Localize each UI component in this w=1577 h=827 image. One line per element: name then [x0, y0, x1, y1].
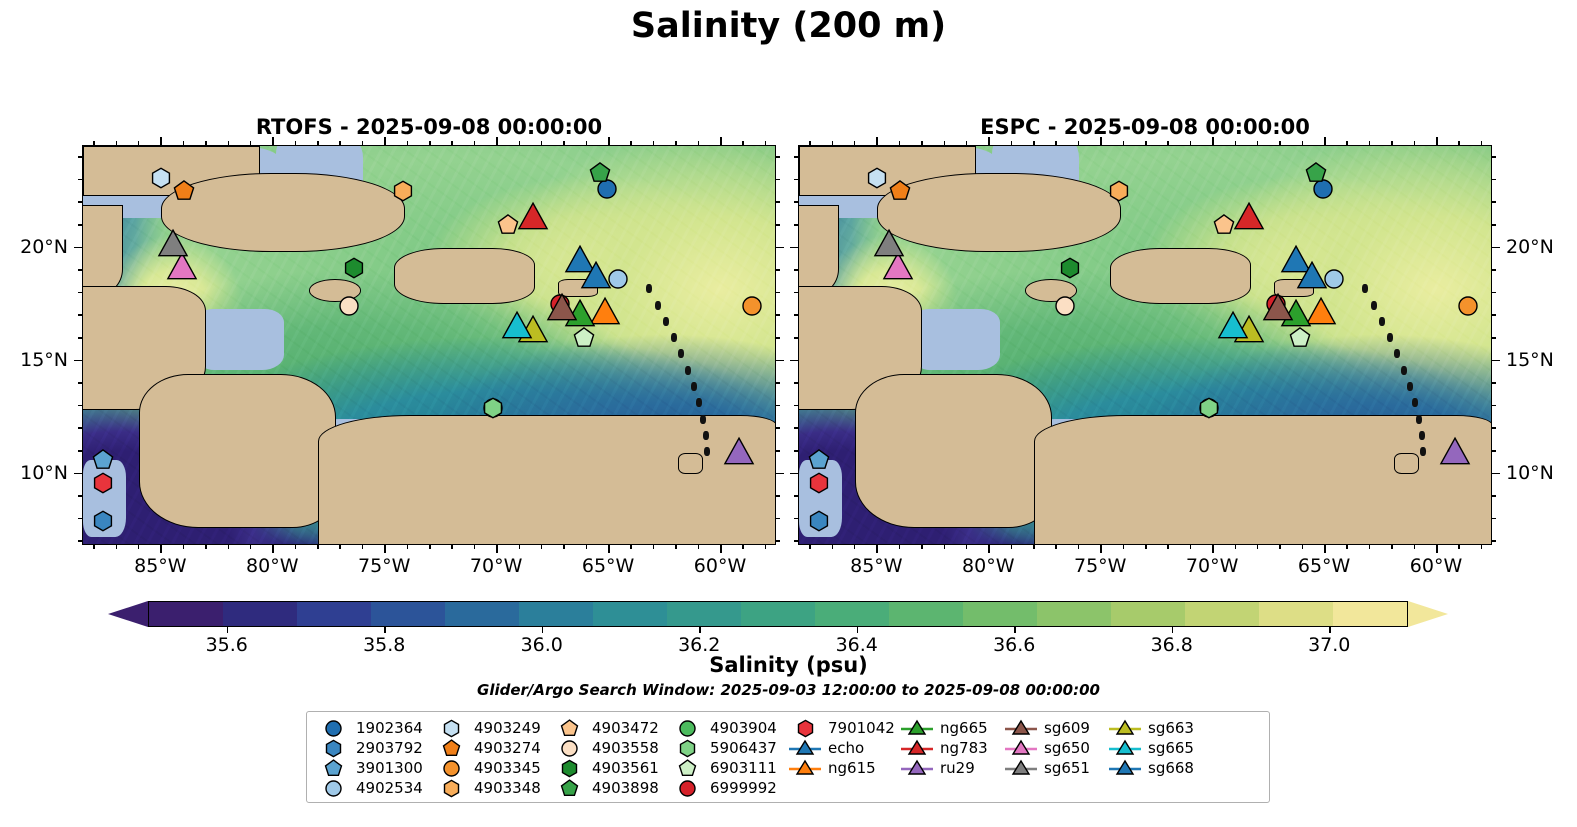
legend-label: sg668: [1148, 759, 1194, 777]
yaxis-minor-tick: [776, 292, 780, 294]
legend-label: 6903111: [710, 759, 777, 777]
legend-marker-triangle-icon: [788, 758, 822, 778]
xaxis-label: 80°W: [246, 555, 298, 577]
legend-item-2903792[interactable]: 2903792: [316, 738, 434, 758]
xaxis-minor-tick: [474, 141, 476, 145]
island: [1416, 415, 1422, 424]
xaxis-minor-tick: [407, 141, 409, 145]
xaxis-minor-tick: [1145, 141, 1147, 145]
colorbar-tick: [1329, 627, 1330, 633]
legend-item-sg663[interactable]: sg663: [1108, 718, 1212, 738]
map-marker-3901300[interactable]: [91, 448, 115, 472]
search-window-text: Glider/Argo Search Window: 2025-09-03 12…: [0, 681, 1577, 699]
xaxis-minor-tick: [921, 545, 923, 549]
xaxis-minor-tick: [1257, 545, 1259, 549]
xaxis-minor-tick: [1458, 545, 1460, 549]
legend-label: 4902534: [356, 779, 423, 797]
map-marker-4903898[interactable]: [1304, 161, 1328, 185]
map-marker-4903472[interactable]: [496, 213, 520, 237]
island: [704, 447, 710, 456]
legend-marker-hexagon-icon: [434, 718, 468, 738]
map-marker-sg609[interactable]: [548, 295, 576, 323]
legend-label: 4903274: [474, 739, 541, 757]
legend-label: 4903472: [592, 719, 659, 737]
yaxis-tick: [790, 360, 798, 362]
yaxis-tick: [1492, 360, 1500, 362]
yaxis-minor-tick: [78, 540, 82, 542]
legend-marker-circle-icon: [552, 738, 586, 758]
xaxis-minor-tick: [362, 141, 364, 145]
xaxis-minor-tick: [93, 141, 95, 145]
xaxis-tick: [608, 137, 610, 145]
xaxis-minor-tick: [1033, 545, 1035, 549]
xaxis-minor-tick: [630, 545, 632, 549]
xaxis-tick: [876, 545, 878, 553]
landmass: [678, 453, 703, 473]
yaxis-tick: [776, 247, 784, 249]
xaxis-tick: [1436, 137, 1438, 145]
island: [1420, 447, 1426, 456]
xaxis-minor-tick: [1279, 545, 1281, 549]
xaxis-minor-tick: [742, 545, 744, 549]
map-marker-4903472[interactable]: [1212, 213, 1236, 237]
xaxis-minor-tick: [1235, 141, 1237, 145]
yaxis-minor-tick: [776, 201, 780, 203]
continental-shelf: [197, 309, 284, 370]
xaxis-minor-tick: [698, 141, 700, 145]
xaxis-minor-tick: [1055, 141, 1057, 145]
xaxis-minor-tick: [205, 141, 207, 145]
legend-column: 4903904590643769031116999992: [670, 718, 788, 802]
colorbar-segment-2: [297, 602, 371, 626]
xaxis-minor-tick: [295, 141, 297, 145]
yaxis-minor-tick: [1492, 450, 1496, 452]
legend-label: sg609: [1044, 719, 1090, 737]
xaxis-minor-tick: [1167, 141, 1169, 145]
xaxis-minor-tick: [138, 141, 140, 145]
xaxis-minor-tick: [653, 545, 655, 549]
yaxis-minor-tick: [1492, 314, 1496, 316]
xaxis-minor-tick: [1190, 141, 1192, 145]
colorbar-extend-min: [108, 601, 148, 627]
yaxis-minor-tick: [794, 314, 798, 316]
yaxis-minor-tick: [1492, 427, 1496, 429]
colorbar-segment-6: [593, 602, 667, 626]
xaxis-minor-tick: [1011, 141, 1013, 145]
xaxis-minor-tick: [1078, 141, 1080, 145]
yaxis-minor-tick: [794, 540, 798, 542]
map-marker-5906437[interactable]: [1197, 396, 1221, 420]
xaxis-minor-tick: [899, 141, 901, 145]
xaxis-minor-tick: [1257, 141, 1259, 145]
xaxis-label: 70°W: [470, 555, 522, 577]
xaxis-minor-tick: [1145, 545, 1147, 549]
map-marker-4903558[interactable]: [337, 294, 361, 318]
yaxis-minor-tick: [78, 224, 82, 226]
xaxis-minor-tick: [586, 545, 588, 549]
map-marker-sg668[interactable]: [1298, 263, 1326, 291]
colorbar-gradient: [148, 601, 1408, 627]
legend-label: sg650: [1044, 739, 1090, 757]
legend-marker-hexagon-icon: [316, 738, 350, 758]
legend-item-6903111[interactable]: 6903111: [670, 758, 788, 778]
yaxis-minor-tick: [794, 156, 798, 158]
yaxis-minor-tick: [1492, 518, 1496, 520]
legend-marker-triangle-icon: [1004, 718, 1038, 738]
xaxis-minor-tick: [1033, 141, 1035, 145]
colorbar-segment-3: [371, 602, 445, 626]
xaxis-tick: [272, 545, 274, 553]
legend-item-4902534[interactable]: 4902534: [316, 778, 434, 798]
xaxis-minor-tick: [944, 141, 946, 145]
map-marker-4903274[interactable]: [888, 179, 912, 203]
landmass: [161, 173, 405, 252]
xaxis-minor-tick: [1414, 141, 1416, 145]
colorbar-segment-8: [741, 602, 815, 626]
xaxis-minor-tick: [653, 141, 655, 145]
legend-item-6999992[interactable]: 6999992: [670, 778, 788, 798]
yaxis-minor-tick: [78, 292, 82, 294]
xaxis-minor-tick: [921, 141, 923, 145]
map-marker-7901042[interactable]: [807, 471, 831, 495]
legend-item-4903274[interactable]: 4903274: [434, 738, 552, 758]
colorbar-tick: [542, 627, 543, 633]
yaxis-minor-tick: [78, 201, 82, 203]
xaxis-minor-tick: [742, 141, 744, 145]
legend-label: 6999992: [710, 779, 777, 797]
map-marker-2903792[interactable]: [807, 509, 831, 533]
yaxis-minor-tick: [794, 269, 798, 271]
xaxis-minor-tick: [250, 545, 252, 549]
map-marker-4903348[interactable]: [391, 179, 415, 203]
colorbar-segment-9: [815, 602, 889, 626]
map-marker-ng783[interactable]: [1235, 204, 1263, 232]
xaxis-label: 75°W: [1074, 555, 1126, 577]
xaxis-tick: [876, 137, 878, 145]
map-marker-sg668[interactable]: [582, 263, 610, 291]
map-marker-sg609[interactable]: [1264, 295, 1292, 323]
xaxis-minor-tick: [1279, 141, 1281, 145]
xaxis-minor-tick: [250, 141, 252, 145]
legend-item-ng665[interactable]: ng665: [900, 718, 1004, 738]
map-marker-4903558[interactable]: [1053, 294, 1077, 318]
legend-item-sg609[interactable]: sg609: [1004, 718, 1108, 738]
yaxis-tick: [776, 473, 784, 475]
xaxis-minor-tick: [563, 141, 565, 145]
xaxis-minor-tick: [1369, 545, 1371, 549]
colorbar-segment-16: [1333, 602, 1407, 626]
map-marker-4903345[interactable]: [740, 294, 764, 318]
legend-item-4903348[interactable]: 4903348: [434, 778, 552, 798]
map-marker-4903345[interactable]: [1456, 294, 1480, 318]
island: [703, 431, 709, 440]
panel-title-rtofs: RTOFS - 2025-09-08 00:00:00: [82, 115, 776, 139]
xaxis-minor-tick: [138, 545, 140, 549]
legend-marker-pentagon-icon: [552, 778, 586, 798]
xaxis-minor-tick: [1391, 141, 1393, 145]
legend-column: ng665ng783ru29: [900, 718, 1004, 802]
xaxis-tick: [1324, 137, 1326, 145]
yaxis-minor-tick: [776, 269, 780, 271]
map-marker-7901042[interactable]: [91, 471, 115, 495]
legend-marker-circle-icon: [316, 718, 350, 738]
map-marker-sg651[interactable]: [875, 231, 903, 259]
xaxis-minor-tick: [317, 545, 319, 549]
map-marker-6903111[interactable]: [572, 326, 596, 350]
map-marker-ru29[interactable]: [725, 439, 753, 467]
yaxis-minor-tick: [794, 179, 798, 181]
legend-marker-triangle-icon: [1004, 738, 1038, 758]
landmass: [855, 374, 1052, 528]
island: [1419, 431, 1425, 440]
xaxis-minor-tick: [809, 545, 811, 549]
legend-item-4903561[interactable]: 4903561: [552, 758, 670, 778]
legend-marker-triangle-icon: [900, 718, 934, 738]
legend-item-sg651[interactable]: sg651: [1004, 758, 1108, 778]
xaxis-minor-tick: [1346, 545, 1348, 549]
map-marker-4903274[interactable]: [172, 179, 196, 203]
legend-marker-hexagon-icon: [552, 758, 586, 778]
xaxis-minor-tick: [339, 545, 341, 549]
legend-item-ru29[interactable]: ru29: [900, 758, 1004, 778]
legend-marker-triangle-icon: [1108, 758, 1142, 778]
map-marker-ng615[interactable]: [1307, 299, 1335, 327]
xaxis-minor-tick: [541, 141, 543, 145]
xaxis-minor-tick: [854, 545, 856, 549]
map-panel-espc[interactable]: ESPC - 2025-09-08 00:00:00 85°W80°W75°W7…: [798, 145, 1492, 545]
xaxis-tick: [272, 137, 274, 145]
xaxis-tick: [988, 545, 990, 553]
colorbar-tick: [699, 627, 700, 633]
map-marker-ng615[interactable]: [591, 299, 619, 327]
xaxis-minor-tick: [295, 545, 297, 549]
yaxis-minor-tick: [794, 518, 798, 520]
xaxis-minor-tick: [832, 141, 834, 145]
yaxis-minor-tick: [794, 405, 798, 407]
legend-marker-circle-icon: [316, 778, 350, 798]
legend-item-sg668[interactable]: sg668: [1108, 758, 1212, 778]
legend-label: 4903348: [474, 779, 541, 797]
legend-label: 7901042: [828, 719, 895, 737]
yaxis-minor-tick: [78, 269, 82, 271]
yaxis-minor-tick: [78, 179, 82, 181]
map-panel-rtofs[interactable]: RTOFS - 2025-09-08 00:00:00 85°W80°W75°W…: [82, 145, 776, 545]
xaxis-minor-tick: [228, 545, 230, 549]
yaxis-label: 15°N: [1506, 349, 1554, 371]
xaxis-minor-tick: [407, 545, 409, 549]
yaxis-minor-tick: [794, 427, 798, 429]
yaxis-minor-tick: [776, 179, 780, 181]
legend-marker-triangle-icon: [1108, 738, 1142, 758]
xaxis-label: 65°W: [582, 555, 634, 577]
xaxis-minor-tick: [317, 141, 319, 145]
yaxis-minor-tick: [776, 540, 780, 542]
yaxis-minor-tick: [1492, 495, 1496, 497]
yaxis-minor-tick: [1492, 337, 1496, 339]
yaxis-minor-tick: [776, 337, 780, 339]
map-marker-4903348[interactable]: [1107, 179, 1131, 203]
map-marker-3901300[interactable]: [807, 448, 831, 472]
xaxis-label: 80°W: [962, 555, 1014, 577]
island: [671, 333, 677, 342]
map-frame-espc[interactable]: [798, 145, 1492, 545]
figure-canvas: Salinity (200 m) RTOFS - 2025-09-08 00:0…: [0, 0, 1577, 827]
legend-item-4903345[interactable]: 4903345: [434, 758, 552, 778]
yaxis-tick: [776, 360, 784, 362]
xaxis-minor-tick: [183, 545, 185, 549]
legend-item-sg650[interactable]: sg650: [1004, 738, 1108, 758]
legend-item-4903472[interactable]: 4903472: [552, 718, 670, 738]
legend-item-4903558[interactable]: 4903558: [552, 738, 670, 758]
xaxis-tick: [608, 545, 610, 553]
legend-column: 4903472490355849035614903898: [552, 718, 670, 802]
colorbar-segment-1: [223, 602, 297, 626]
legend-marker-triangle-icon: [900, 758, 934, 778]
map-marker-4903249[interactable]: [149, 166, 173, 190]
yaxis-minor-tick: [78, 337, 82, 339]
yaxis-minor-tick: [776, 156, 780, 158]
xaxis-minor-tick: [519, 141, 521, 145]
map-marker-4903561[interactable]: [1058, 256, 1082, 280]
legend-label: sg651: [1044, 759, 1090, 777]
yaxis-minor-tick: [1492, 179, 1496, 181]
legend-item-7901042[interactable]: 7901042: [788, 718, 900, 738]
legend-item-5906437[interactable]: 5906437: [670, 738, 788, 758]
figure-title: Salinity (200 m): [0, 6, 1577, 46]
legend-item-1902364[interactable]: 1902364: [316, 718, 434, 738]
map-marker-4903249[interactable]: [865, 166, 889, 190]
xaxis-minor-tick: [698, 545, 700, 549]
map-marker-sg651[interactable]: [159, 231, 187, 259]
yaxis-label: 20°N: [20, 236, 68, 258]
legend-label: 4903904: [710, 719, 777, 737]
xaxis-minor-tick: [451, 141, 453, 145]
yaxis-minor-tick: [794, 201, 798, 203]
colorbar-segment-13: [1111, 602, 1185, 626]
legend-column: 4903249490327449033454903348: [434, 718, 552, 802]
legend-label: 1902364: [356, 719, 423, 737]
xaxis-tick: [720, 545, 722, 553]
yaxis-minor-tick: [794, 495, 798, 497]
legend-label: 4903249: [474, 719, 541, 737]
yaxis-minor-tick: [1492, 224, 1496, 226]
xaxis-minor-tick: [1414, 545, 1416, 549]
legend-label: ng615: [828, 759, 876, 777]
island: [1379, 317, 1385, 326]
xaxis-minor-tick: [966, 141, 968, 145]
xaxis-minor-tick: [765, 545, 767, 549]
colorbar[interactable]: 35.635.836.036.236.436.636.837.0: [108, 601, 1448, 627]
map-marker-sg665[interactable]: [503, 313, 531, 341]
colorbar-tick: [227, 627, 228, 633]
xaxis-minor-tick: [1481, 545, 1483, 549]
xaxis-minor-tick: [809, 141, 811, 145]
yaxis-tick: [790, 473, 798, 475]
xaxis-tick: [1100, 137, 1102, 145]
yaxis-label: 20°N: [1506, 236, 1554, 258]
yaxis-tick: [74, 360, 82, 362]
legend-item-3901300[interactable]: 3901300: [316, 758, 434, 778]
yaxis-tick: [1492, 247, 1500, 249]
xaxis-minor-tick: [586, 141, 588, 145]
legend-item-ng783[interactable]: ng783: [900, 738, 1004, 758]
xaxis-tick: [496, 545, 498, 553]
colorbar-segment-10: [889, 602, 963, 626]
xaxis-minor-tick: [474, 545, 476, 549]
legend[interactable]: 1902364290379239013004902534490324949032…: [306, 711, 1270, 803]
map-marker-6903111[interactable]: [1288, 326, 1312, 350]
yaxis-minor-tick: [1492, 292, 1496, 294]
map-marker-ng783[interactable]: [519, 204, 547, 232]
panel-title-espc: ESPC - 2025-09-08 00:00:00: [798, 115, 1492, 139]
xaxis-minor-tick: [1302, 141, 1304, 145]
landmass: [1110, 248, 1251, 304]
map-marker-5906437[interactable]: [481, 396, 505, 420]
legend-marker-pentagon-icon: [670, 758, 704, 778]
xaxis-minor-tick: [675, 141, 677, 145]
xaxis-tick: [988, 137, 990, 145]
legend-item-echo[interactable]: echo: [788, 738, 900, 758]
xaxis-label: 65°W: [1298, 555, 1350, 577]
legend-marker-pentagon-icon: [316, 758, 350, 778]
yaxis-minor-tick: [776, 427, 780, 429]
legend-item-sg665[interactable]: sg665: [1108, 738, 1212, 758]
xaxis-label: 85°W: [850, 555, 902, 577]
xaxis-tick: [160, 545, 162, 553]
xaxis-minor-tick: [1391, 545, 1393, 549]
xaxis-minor-tick: [1167, 545, 1169, 549]
island: [685, 366, 691, 375]
yaxis-minor-tick: [78, 382, 82, 384]
xaxis-tick: [1212, 545, 1214, 553]
island: [1412, 398, 1418, 407]
map-marker-4903561[interactable]: [342, 256, 366, 280]
map-marker-ru29[interactable]: [1441, 439, 1469, 467]
xaxis-minor-tick: [451, 545, 453, 549]
xaxis-minor-tick: [116, 545, 118, 549]
colorbar-segment-5: [519, 602, 593, 626]
legend-label: sg665: [1148, 739, 1194, 757]
legend-item-4903249[interactable]: 4903249: [434, 718, 552, 738]
map-marker-sg665[interactable]: [1219, 313, 1247, 341]
xaxis-minor-tick: [116, 141, 118, 145]
yaxis-minor-tick: [794, 292, 798, 294]
yaxis-minor-tick: [1492, 540, 1496, 542]
yaxis-tick: [74, 473, 82, 475]
yaxis-minor-tick: [1492, 201, 1496, 203]
legend-marker-circle-icon: [670, 778, 704, 798]
yaxis-minor-tick: [1492, 156, 1496, 158]
map-frame-rtofs[interactable]: [82, 145, 776, 545]
legend-item-ng615[interactable]: ng615: [788, 758, 900, 778]
legend-item-4903898[interactable]: 4903898: [552, 778, 670, 798]
xaxis-minor-tick: [1123, 545, 1125, 549]
island: [1401, 366, 1407, 375]
map-marker-2903792[interactable]: [91, 509, 115, 533]
legend-marker-circle-icon: [670, 718, 704, 738]
xaxis-minor-tick: [944, 545, 946, 549]
yaxis-minor-tick: [776, 405, 780, 407]
legend-label: ru29: [940, 759, 975, 777]
legend-item-4903904[interactable]: 4903904: [670, 718, 788, 738]
map-marker-4903898[interactable]: [588, 161, 612, 185]
xaxis-minor-tick: [1235, 545, 1237, 549]
colorbar-tick: [1014, 627, 1015, 633]
colorbar-tick: [384, 627, 385, 633]
colorbar-tick: [857, 627, 858, 633]
colorbar-extend-max: [1408, 601, 1448, 627]
legend-marker-circle-icon: [434, 758, 468, 778]
